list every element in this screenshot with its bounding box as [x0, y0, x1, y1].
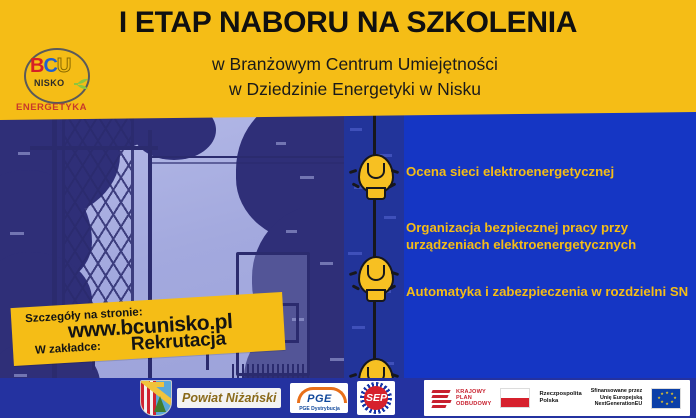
logo-letter-b: B — [30, 55, 43, 77]
logo-letter-u: U — [57, 55, 70, 77]
bcu-logo: BCU NISKO ENERGETYKA — [12, 48, 108, 114]
partner-logos: Powiat Niżański PGE PGE Dystrybucja SEP — [140, 380, 395, 416]
training-topics-list: Ocena sieci elektroenergetycznej Organiz… — [406, 118, 696, 418]
sketch-speck — [286, 230, 297, 233]
kpo-logo: KRAJOWY PLAN ODBUDOWY — [432, 389, 491, 408]
eu-line-1: Sfinansowane przez — [591, 388, 643, 395]
logo-letters: BCU — [30, 56, 70, 76]
rp-line-2: Polska — [539, 398, 581, 405]
secondary-pole — [148, 130, 152, 416]
subtitle-line-1: w Branżowym Centrum Umiejętności — [120, 52, 590, 77]
list-item: Organizacja bezpiecznej pracy przy urząd… — [406, 219, 694, 253]
list-item: Automatyka i zabezpieczenia w rozdzielni… — [406, 283, 694, 300]
poland-flag-icon — [500, 388, 530, 408]
eu-line-3: NextGenerationEU — [591, 401, 643, 408]
logo-letter-c: C — [43, 55, 56, 77]
subtitle: w Branżowym Centrum Umiejętności w Dzied… — [120, 52, 590, 102]
sketch-speck — [276, 142, 286, 145]
sketch-speck — [18, 152, 30, 155]
lightbulb-icon — [355, 154, 393, 198]
poster-root: Ocena sieci elektroenergetycznej Organiz… — [0, 0, 696, 418]
pge-logo: PGE PGE Dystrybucja — [290, 383, 348, 413]
republic-of-poland-text: Rzeczpospolita Polska — [539, 391, 581, 405]
sketch-speck — [10, 232, 24, 235]
page-title: I ETAP NABORU NA SZKOLENIA — [0, 6, 696, 40]
sketch-speck — [330, 358, 344, 361]
list-item: Ocena sieci elektroenergetycznej — [406, 163, 694, 180]
sep-logo: SEP — [357, 381, 395, 415]
partner-name-powiat: Powiat Niżański — [177, 388, 281, 408]
logo-nisko-text: NISKO — [34, 78, 65, 88]
eu-flag-icon: ★ ★ ★ ★ ★ ★ ★ ★ — [651, 388, 681, 409]
pylon-pole — [52, 112, 57, 410]
callout-tab-label: W zakładce: — [35, 341, 101, 357]
plug-icon — [74, 76, 92, 92]
bulb-cord — [373, 198, 376, 258]
kpo-text: KRAJOWY PLAN ODBUDOWY — [456, 389, 491, 408]
eu-funding-text: Sfinansowane przez Unię Europejską NextG… — [591, 388, 643, 408]
pge-subtitle: PGE Dystrybucja — [290, 406, 348, 412]
logo-energetyka-text: ENERGETYKA — [16, 102, 87, 113]
bulb-cord — [373, 112, 376, 156]
eu-line-2: Unię Europejską — [591, 395, 643, 402]
sketch-speck — [300, 176, 314, 179]
funding-logos: KRAJOWY PLAN ODBUDOWY Rzeczpospolita Pol… — [432, 383, 681, 413]
subtitle-line-2: w Dziedzinie Energetyki w Nisku — [120, 77, 590, 102]
hanging-bulbs-strip — [344, 112, 404, 418]
lightbulb-icon — [355, 256, 393, 300]
bulb-cord — [373, 300, 376, 360]
pge-wordmark: PGE — [290, 393, 348, 405]
kpo-line-3: ODBUDOWY — [456, 401, 491, 407]
tab-name: Rekrutacja — [130, 328, 226, 356]
sketch-speck — [320, 262, 333, 265]
sketch-speck — [14, 374, 27, 377]
rp-line-1: Rzeczpospolita — [539, 391, 581, 398]
kpo-mark-icon — [432, 389, 452, 407]
powiat-crest-icon — [140, 380, 172, 416]
